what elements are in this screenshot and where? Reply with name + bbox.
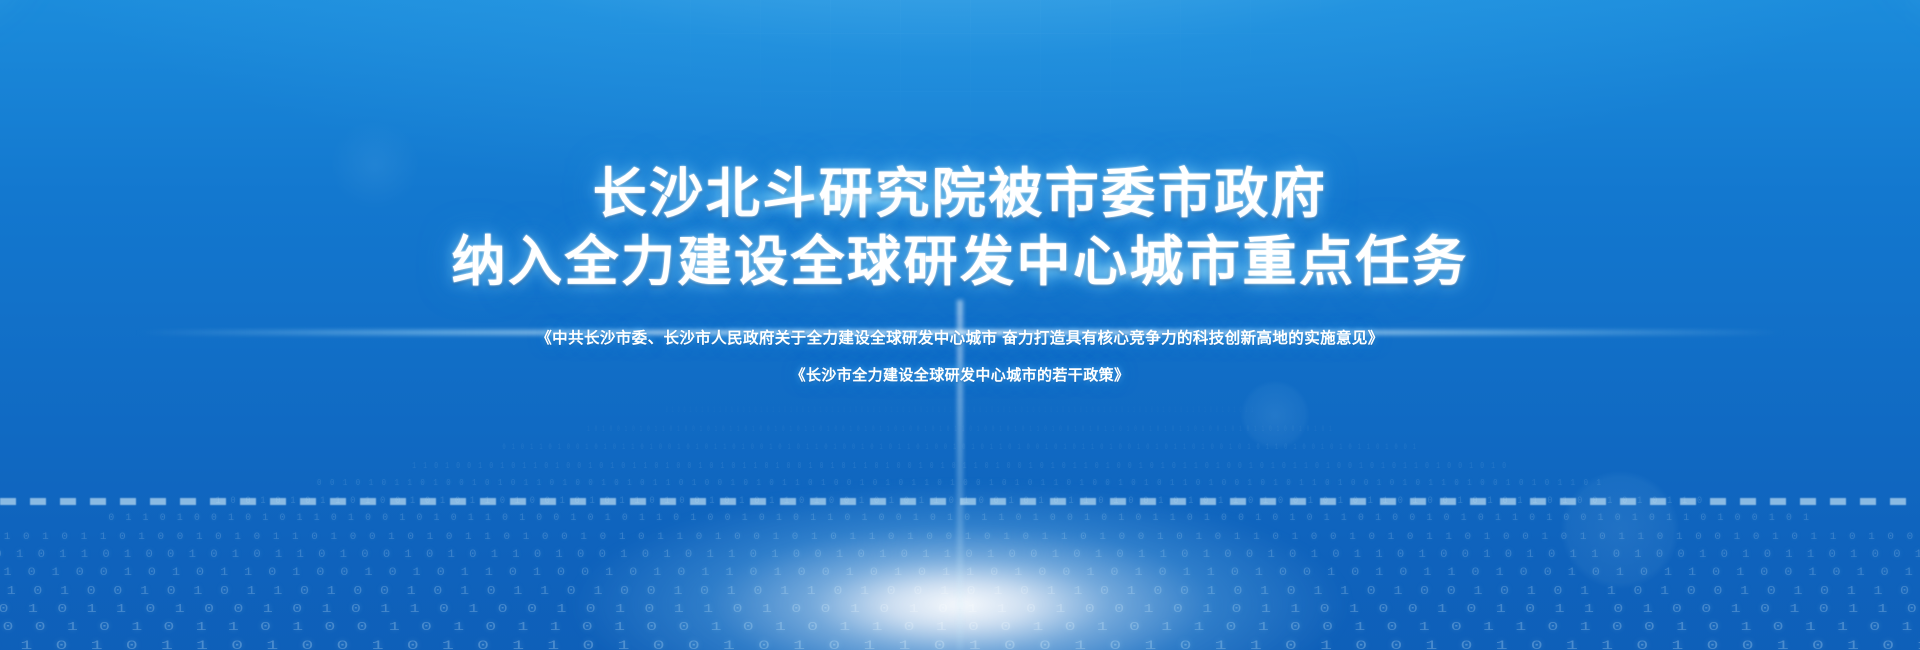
subtitle-policy-document-1: 《中共长沙市委、长沙市人民政府关于全力建设全球研发中心城市 奋力打造具有核心竞争… — [0, 326, 1920, 348]
banner-hero: 0 1 0 0 1 0 1 0 1 1 0 1 0 0 1 0 1 0 1 1 … — [0, 0, 1920, 650]
page-title-line-2: 纳入全力建设全球研发中心城市重点任务 — [0, 231, 1920, 293]
page-title-line-1: 长沙北斗研究院被市委市政府 — [0, 163, 1920, 225]
banner-content: 长沙北斗研究院被市委市政府 纳入全力建设全球研发中心城市重点任务 《中共长沙市委… — [0, 0, 1920, 385]
subtitle-policy-document-2: 《长沙市全力建设全球研发中心城市的若干政策》 — [0, 364, 1920, 385]
